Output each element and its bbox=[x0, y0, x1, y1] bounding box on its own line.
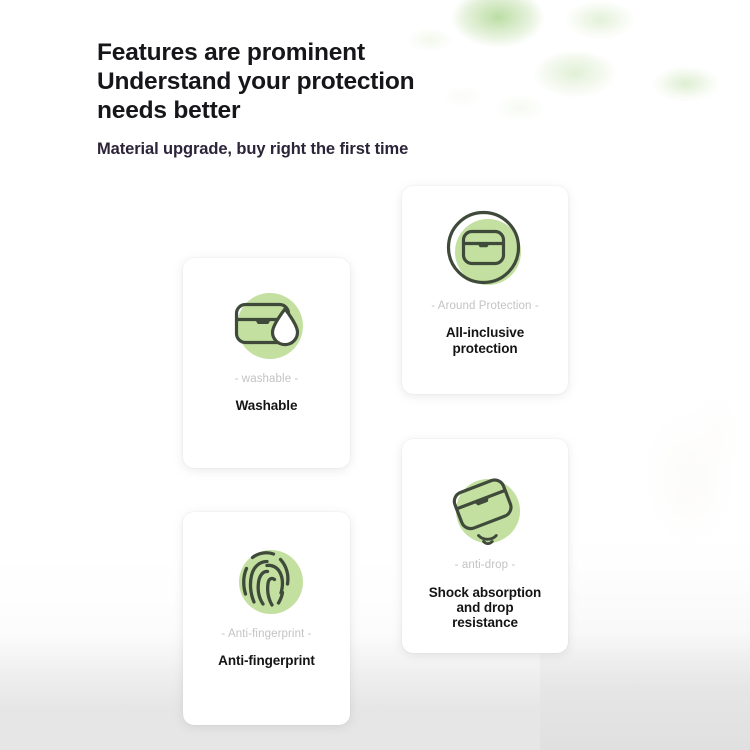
subheadline: Material upgrade, buy right the first ti… bbox=[97, 140, 577, 159]
anti-fingerprint-icon-wrap bbox=[219, 530, 315, 626]
headline-line-2: Understand your protection bbox=[97, 67, 577, 96]
header-block: Features are prominent Understand your p… bbox=[97, 38, 577, 159]
around-protection-icon-wrap bbox=[437, 202, 533, 298]
around-protection-title: All-inclusive protection bbox=[438, 325, 532, 357]
fingerprint-icon bbox=[219, 530, 315, 626]
feature-card-around-protection[interactable]: - Around Protection - All-inclusive prot… bbox=[402, 186, 568, 394]
feature-card-washable[interactable]: - washable - Washable bbox=[183, 258, 350, 468]
case-with-water-droplet-icon bbox=[219, 276, 315, 372]
anti-fingerprint-title: Anti-fingerprint bbox=[210, 653, 323, 669]
headline-line-3: needs better bbox=[97, 96, 577, 125]
washable-icon-wrap bbox=[219, 276, 315, 372]
headline-line-1: Features are prominent bbox=[97, 38, 577, 67]
anti-drop-tagline: - anti-drop - bbox=[455, 559, 516, 571]
feature-card-anti-drop[interactable]: - anti-drop - Shock absorption and drop … bbox=[402, 439, 568, 653]
washable-title: Washable bbox=[228, 398, 306, 414]
around-protection-tagline: - Around Protection - bbox=[431, 300, 539, 312]
earbuds-case-in-circle-icon bbox=[437, 202, 533, 298]
feature-card-anti-fingerprint[interactable]: - Anti-fingerprint - Anti-fingerprint bbox=[183, 512, 350, 725]
anti-drop-icon-wrap bbox=[437, 459, 533, 555]
washable-tagline: - washable - bbox=[235, 373, 299, 385]
tilted-case-impact-icon bbox=[437, 459, 533, 555]
anti-fingerprint-tagline: - Anti-fingerprint - bbox=[221, 628, 311, 640]
anti-drop-title: Shock absorption and drop resistance bbox=[421, 585, 549, 630]
